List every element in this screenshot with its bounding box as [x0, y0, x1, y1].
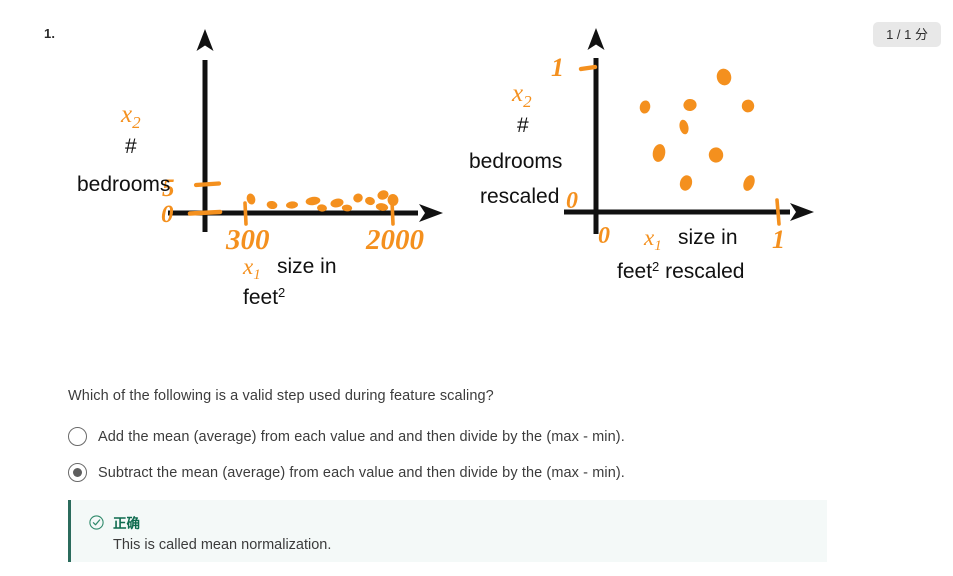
feedback-body: This is called mean normalization.	[113, 537, 827, 553]
feedback-box: 正确 This is called mean normalization.	[68, 500, 827, 562]
feedback-header: 正确	[89, 512, 827, 532]
left-chart: 5 0 300 2000 x2 # bedrooms x1 size in fe…	[77, 29, 443, 309]
answer-option-0[interactable]: Add the mean (average) from each value a…	[68, 427, 625, 446]
right-chart-points	[639, 67, 757, 192]
right-chart-x-label-line1: size in	[678, 226, 738, 249]
right-chart-x-arrow	[790, 203, 814, 221]
left-chart-ytick-0	[190, 212, 220, 214]
left-chart-ytick-5	[196, 184, 219, 186]
radio-button-icon-0[interactable]	[68, 427, 87, 446]
answer-option-1[interactable]: Subtract the mean (average) from each va…	[68, 463, 625, 482]
question-prompt: Which of the following is a valid step u…	[68, 388, 494, 404]
right-chart-y-label-line1: #	[517, 114, 529, 137]
right-chart-y-label-var: x2	[511, 80, 532, 111]
right-chart-x-label-var: x1	[643, 225, 662, 254]
left-chart-y-label-line1: #	[125, 135, 137, 158]
left-chart-x-label-line2: feet2	[243, 285, 285, 309]
right-chart-y-arrow	[588, 28, 605, 50]
right-chart-xtick-label-1: 1	[772, 225, 785, 254]
left-chart-x-label-line1: size in	[277, 255, 337, 278]
radio-button-icon-1[interactable]	[68, 463, 87, 482]
right-chart-y-label-line3: rescaled	[480, 185, 559, 208]
right-chart-ytick-label-1: 1	[551, 53, 564, 82]
right-chart-xtick-1	[777, 200, 779, 224]
answer-option-label-0: Add the mean (average) from each value a…	[98, 429, 625, 445]
right-chart-ytick-label-0: 0	[566, 188, 578, 214]
right-chart-x-label-line2: feet2 rescaled	[617, 259, 744, 283]
left-chart-y-arrow	[197, 29, 214, 51]
left-chart-points	[245, 189, 399, 212]
right-chart-ytick-1	[581, 67, 595, 69]
right-chart-xtick-label-0: 0	[598, 223, 610, 249]
answer-option-label-1: Subtract the mean (average) from each va…	[98, 465, 625, 481]
left-chart-x-arrow	[419, 204, 443, 222]
feedback-title: 正确	[113, 512, 140, 532]
feature-scaling-figure: 5 0 300 2000 x2 # bedrooms x1 size in fe…	[0, 0, 953, 330]
left-chart-x-label-var: x1	[242, 254, 261, 283]
right-chart: 1 0 0 1 x2 # bedrooms rescaled x1 size i…	[469, 28, 814, 283]
left-chart-xtick-label-300: 300	[225, 224, 270, 256]
right-chart-y-label-line2: bedrooms	[469, 150, 562, 173]
check-circle-icon	[89, 515, 104, 530]
left-chart-ytick-label-0: 0	[161, 201, 174, 228]
left-chart-y-label-line2: bedrooms	[77, 173, 170, 196]
left-chart-xtick-300	[245, 203, 246, 224]
left-chart-xtick-label-2000: 2000	[365, 224, 424, 256]
left-chart-y-label-var: x2	[120, 101, 141, 132]
